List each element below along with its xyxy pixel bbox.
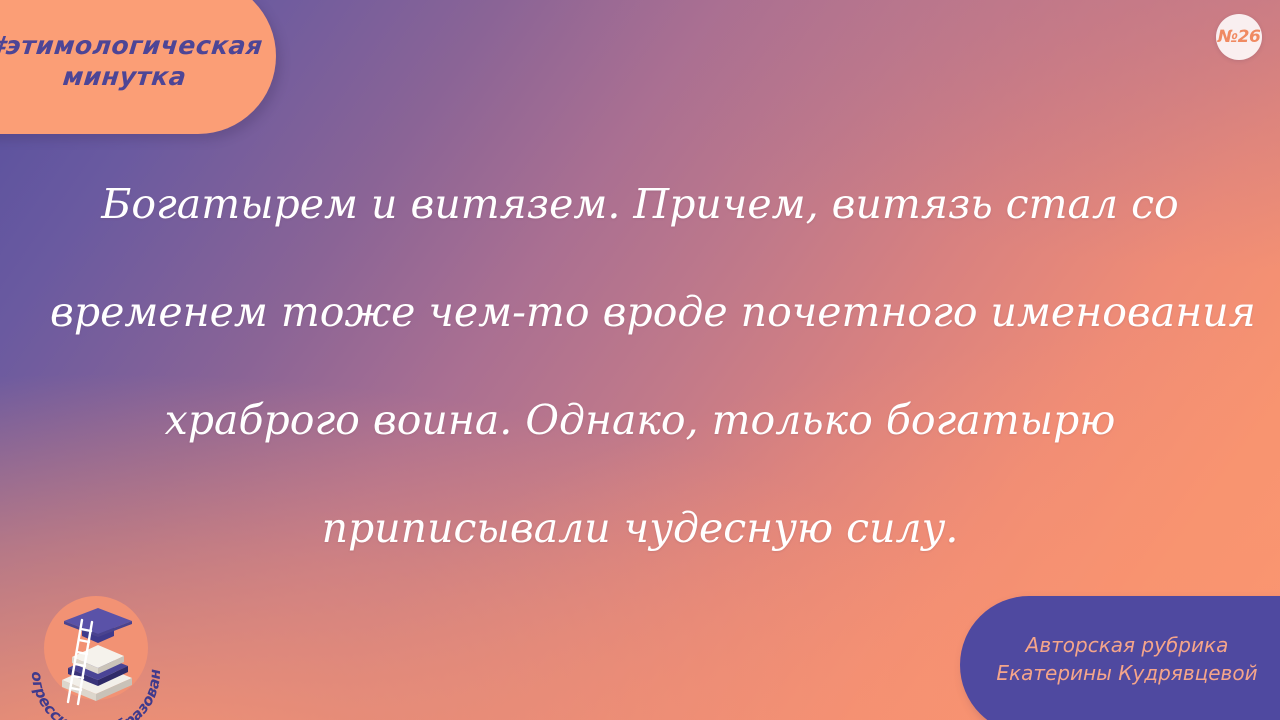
hashtag-badge-line-1: #этимологическая [0, 32, 264, 59]
author-badge-line-1: Авторская рубрика [1026, 631, 1229, 659]
body-text-line: храброго воина. Однако, только богатырю [50, 366, 1230, 474]
number-badge: №26 [1216, 14, 1262, 60]
body-text-line: временем тоже чем-то вроде почетного име… [50, 258, 1230, 366]
number-badge-label: №26 [1218, 27, 1261, 47]
author-badge-line-2: Екатерины Кудрявцевой [996, 659, 1257, 687]
hashtag-badge: #этимологическая минутка [0, 0, 276, 134]
logo: Прогрессивное образование [16, 576, 176, 720]
hashtag-badge-line-2: минутка [62, 63, 188, 90]
author-badge: Авторская рубрика Екатерины Кудрявцевой [960, 596, 1280, 720]
logo-graphic: Прогрессивное образование [16, 576, 176, 720]
body-text: Богатырем и витязем. Причем, витязь стал… [50, 150, 1230, 582]
slide-canvas: #этимологическая минутка №26 Богатырем и… [0, 0, 1280, 720]
body-text-line: Богатырем и витязем. Причем, витязь стал… [50, 150, 1230, 258]
body-text-line: приписывали чудесную силу. [50, 474, 1230, 582]
